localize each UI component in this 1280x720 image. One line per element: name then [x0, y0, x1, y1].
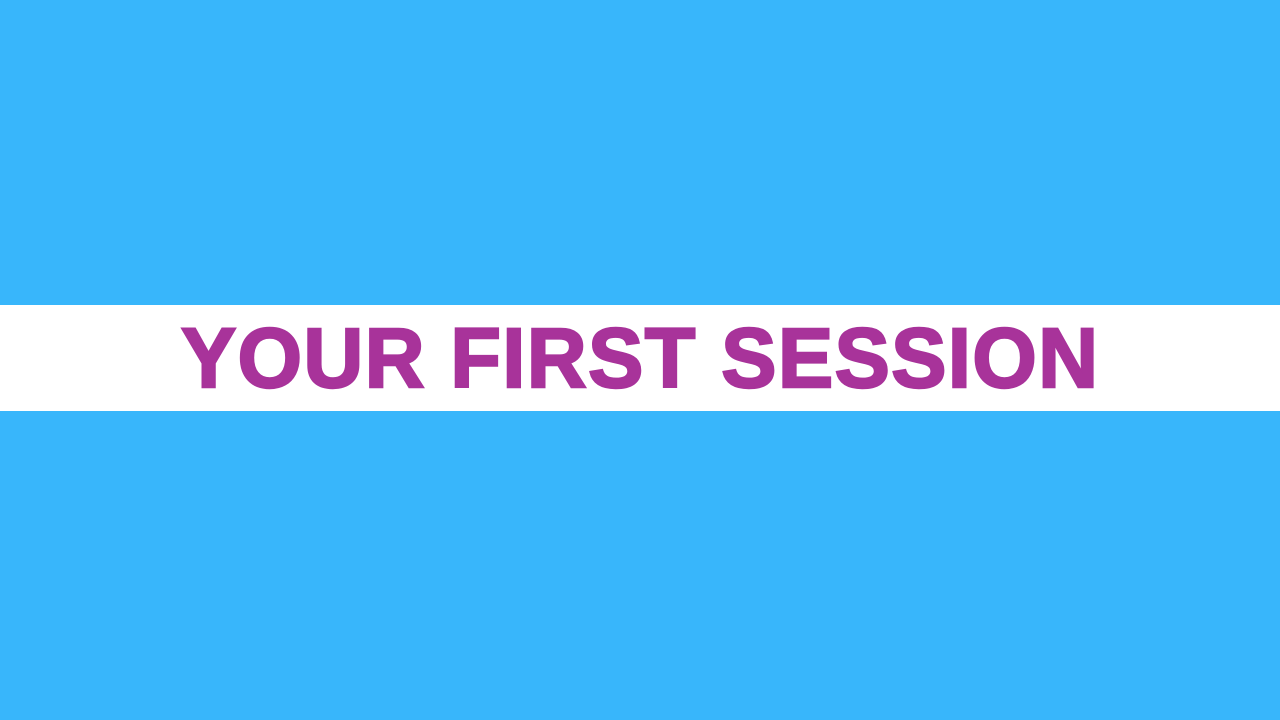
page-title: YOUR FIRST SESSION	[181, 316, 1099, 400]
background-panel-top	[0, 0, 1280, 305]
slide-canvas: YOUR FIRST SESSION	[0, 0, 1280, 720]
background-panel-bottom	[0, 411, 1280, 720]
title-band: YOUR FIRST SESSION	[0, 305, 1280, 411]
